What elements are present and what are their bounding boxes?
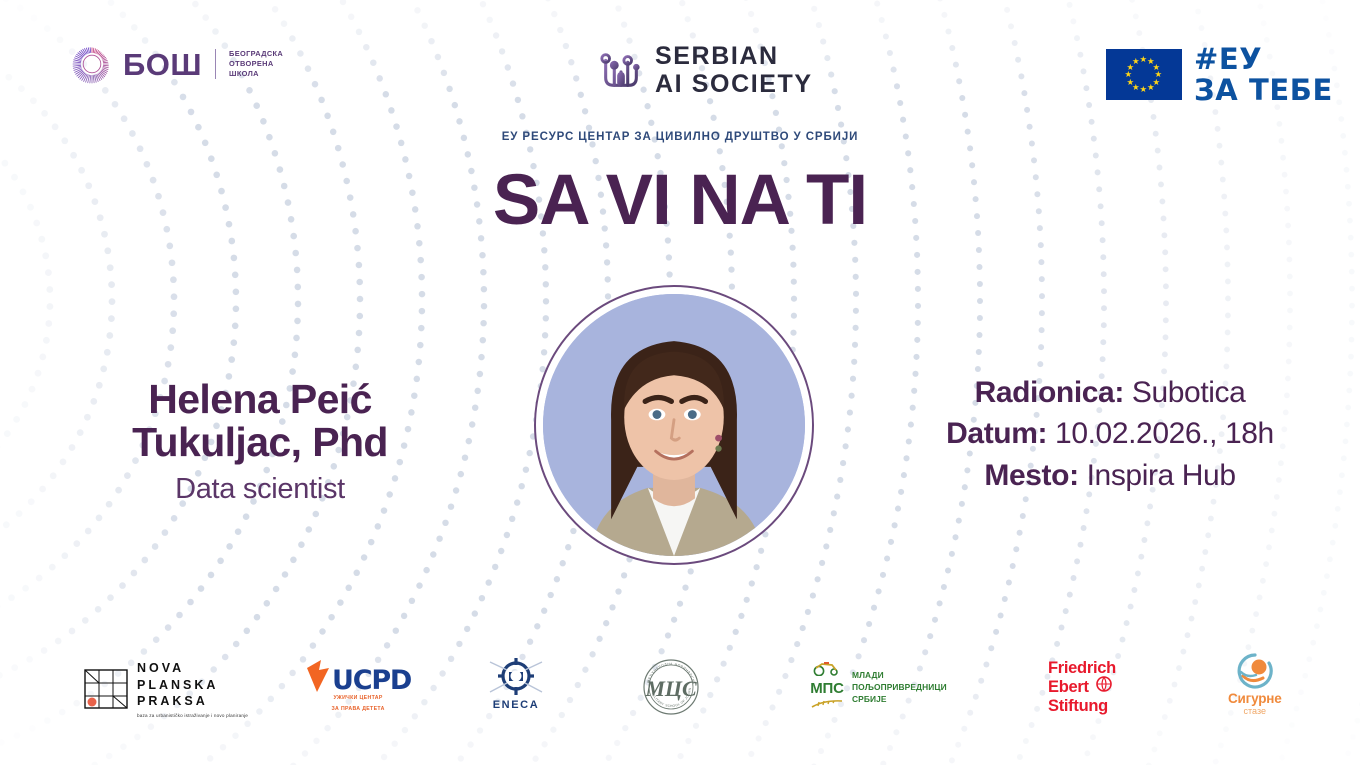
detail-datum: Datum: 10.02.2026., 18h <box>900 413 1320 454</box>
svg-text:МЦС: МЦС <box>644 676 697 701</box>
mps-wordmark: МПС <box>810 681 844 696</box>
sigurne-subtitle: стазе <box>1244 707 1266 716</box>
logo-bos: БОШ БЕОГРАДСКА ОТВОРЕНА ШКОЛА <box>70 42 283 86</box>
speaker-role: Data scientist <box>55 473 465 506</box>
ucpd-wordmark: UCPD <box>332 669 411 692</box>
eu-star: ★ <box>1127 78 1135 87</box>
grid-plan-icon <box>84 669 128 709</box>
detail-datum-value: 10.02.2026., 18h <box>1055 417 1274 450</box>
logo-military-school: МЕЂУНАРОДНА НОВИНАРСКА ШКОЛА MILITARY SC… <box>640 656 702 718</box>
logo-serbian-ai-society: SERBIAN AI SOCIETY <box>598 42 813 98</box>
partner-logo-row: NOVA PLANSKA PRAKSA baza za urbanističko… <box>0 648 1360 728</box>
ucpd-mark-row: UCPD <box>305 658 411 692</box>
bos-wordmark: БОШ <box>123 49 202 80</box>
eneca-wordmark: ENECA <box>493 699 540 711</box>
header-logo-row: БОШ БЕОГРАДСКА ОТВОРЕНА ШКОЛА <box>0 0 1360 120</box>
detail-mesto-label: Mesto: <box>984 459 1078 492</box>
eu-star: ★ <box>1147 83 1155 92</box>
poster-canvas: БОШ БЕОГРАДСКА ОТВОРЕНА ШКОЛА <box>0 0 1360 765</box>
logo-eu-za-tebe: ★★★★★★★★★★★★ #ЕУ ЗА ТЕБЕ <box>1106 44 1333 105</box>
mps-mark: МПС <box>810 662 844 714</box>
detail-mesto: Mesto: Inspira Hub <box>900 455 1320 496</box>
eu-flag-icon: ★★★★★★★★★★★★ <box>1106 49 1182 100</box>
hands-circle-icon <box>1229 652 1281 692</box>
eyebrow-text: ЕУ РЕСУРС ЦЕНТАР ЗА ЦИВИЛНО ДРУШТВО У СР… <box>0 131 1360 143</box>
detail-radionica-value: Subotica <box>1132 376 1246 409</box>
logo-friedrich-ebert-stiftung: Friedrich Ebert Stiftung <box>1048 659 1116 715</box>
speaker-portrait-frame <box>534 285 814 565</box>
ucpd-subtitle: УЖИЧКИ ЦЕНТАР ЗА ПРАВА ДЕТЕТА <box>331 692 384 714</box>
fes-text-block: Friedrich Ebert Stiftung <box>1048 659 1116 715</box>
logo-ucpd: UCPD УЖИЧКИ ЦЕНТАР ЗА ПРАВА ДЕТЕТА <box>305 658 411 714</box>
eu-star: ★ <box>1132 57 1140 66</box>
sas-wordmark: SERBIAN AI SOCIETY <box>655 42 813 98</box>
npp-text-block: NOVA PLANSKA PRAKSA baza za urbanističko… <box>137 660 248 718</box>
eu-star: ★ <box>1140 55 1148 64</box>
speaker-name-line1: Helena Peić <box>55 378 465 421</box>
detail-mesto-value: Inspira Hub <box>1087 459 1236 492</box>
globe-icon <box>1096 676 1112 692</box>
logo-mps: МПС МЛАДИ ПОЉОПРИВРЕДНИЦИ СРБИЈЕ <box>810 662 947 714</box>
military-school-seal-icon: МЕЂУНАРОДНА НОВИНАРСКА ШКОЛА MILITARY SC… <box>640 656 702 718</box>
detail-radionica-label: Radionica: <box>975 376 1124 409</box>
detail-radionica: Radionica: Subotica <box>900 372 1320 413</box>
speaker-name-line2: Tukuljac, Phd <box>55 421 465 464</box>
neural-network-icon <box>598 47 644 93</box>
bos-spiral-icon <box>70 42 114 86</box>
event-details-block: Radionica: Subotica Datum: 10.02.2026., … <box>900 372 1320 496</box>
eneca-compass-icon <box>487 656 545 698</box>
logo-sigurne-staze: Сигурне стазе <box>1228 652 1282 716</box>
page-title: SA VI NA TI <box>0 165 1360 236</box>
bos-subtitle: БЕОГРАДСКА ОТВОРЕНА ШКОЛА <box>229 49 283 80</box>
eu-star: ★ <box>1140 85 1148 94</box>
tractor-icon <box>810 662 844 676</box>
wheat-icon <box>810 699 844 709</box>
portrait-illustration <box>543 294 805 556</box>
npp-subtitle: baza za urbanističko istraživanje i novo… <box>137 713 248 718</box>
ucpd-arrow-icon <box>305 658 331 692</box>
mps-text-block: МЛАДИ ПОЉОПРИВРЕДНИЦИ СРБИЈЕ <box>852 670 947 706</box>
speaker-block: Helena Peić Tukuljac, Phd Data scientist <box>55 378 465 506</box>
speaker-portrait <box>543 294 805 556</box>
logo-eneca: ENECA <box>487 656 545 711</box>
detail-datum-label: Datum: <box>946 417 1047 450</box>
logo-nova-planska-praksa: NOVA PLANSKA PRAKSA baza za urbanističko… <box>84 660 248 718</box>
sigurne-wordmark: Сигурне <box>1228 692 1282 706</box>
eu-wordmark: #ЕУ ЗА ТЕБЕ <box>1194 44 1333 105</box>
bos-divider <box>215 49 216 79</box>
